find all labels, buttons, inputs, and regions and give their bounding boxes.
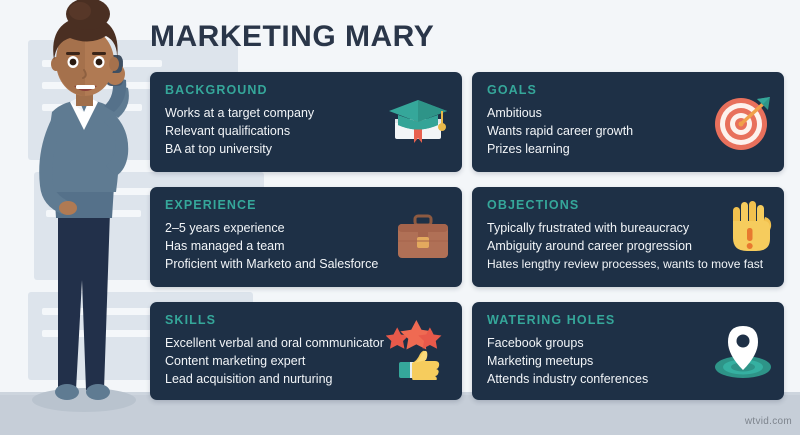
briefcase-icon [394, 210, 452, 264]
raised-hand-warning-icon [726, 199, 776, 255]
page-title: MARKETING MARY [150, 22, 434, 52]
card-background[interactable]: BACKGROUND Works at a target company Rel… [150, 72, 462, 172]
map-pin-ripple-icon [712, 322, 774, 380]
card-goals[interactable]: GOALS Ambitious Wants rapid career growt… [472, 72, 784, 172]
graduation-cap-icon [384, 94, 452, 150]
target-dartboard-icon [712, 91, 774, 153]
card-body: OBJECTIONS Typically frustrated with bur… [472, 187, 784, 287]
card-body: EXPERIENCE 2–5 years experience Has mana… [150, 187, 462, 287]
marketing-mary-illustration [18, 0, 153, 420]
watermark: wtvid.com [745, 416, 792, 427]
card-skills[interactable]: SKILLS Excellent verbal and oral communi… [150, 302, 462, 400]
persona-figure-svg [18, 0, 153, 420]
stars-thumbs-up-icon [386, 318, 452, 380]
persona-infographic: MARKETING MARY BACKGROUND Works at a tar… [0, 0, 800, 435]
card-watering-holes[interactable]: WATERING HOLES Facebook groups Marketing… [472, 302, 784, 400]
card-body: SKILLS Excellent verbal and oral communi… [150, 302, 462, 400]
card-line: Hates lengthy review processes, wants to… [487, 255, 770, 273]
card-experience[interactable]: EXPERIENCE 2–5 years experience Has mana… [150, 187, 462, 287]
card-objections[interactable]: OBJECTIONS Typically frustrated with bur… [472, 187, 784, 287]
card-body: WATERING HOLES Facebook groups Marketing… [472, 302, 784, 400]
card-body: GOALS Ambitious Wants rapid career growt… [472, 72, 784, 172]
card-body: BACKGROUND Works at a target company Rel… [150, 72, 462, 172]
